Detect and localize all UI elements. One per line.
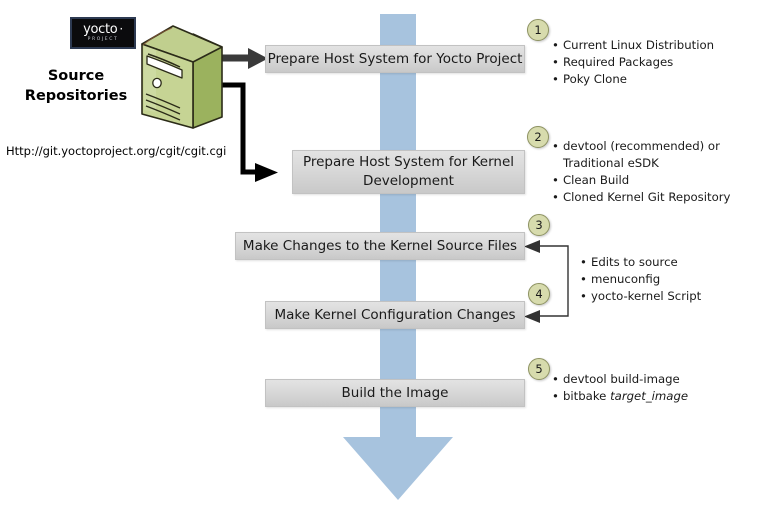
list-item: • Edits to source	[580, 254, 769, 271]
bullet-glyph: •	[552, 388, 563, 405]
list-item: • Cloned Kernel Git Repository	[552, 189, 767, 206]
step-badge-3: 3	[528, 214, 550, 236]
step-badge-1: 1	[527, 19, 549, 41]
step-badge-5-number: 5	[535, 362, 542, 376]
step-1-bullet-2: Poky Clone	[563, 71, 767, 88]
bullet-glyph: •	[552, 138, 563, 155]
process-box-prepare-host-yocto[interactable]: Prepare Host System for Yocto Project	[265, 45, 525, 73]
source-repository-url: Http://git.yoctoproject.org/cgit/cgit.cg…	[6, 144, 236, 158]
bullet-glyph: •	[552, 54, 563, 71]
step-5-bullet-1: bitbake target_image	[563, 388, 767, 405]
process-box-2-label: Prepare Host System for Kernel Developme…	[303, 153, 514, 191]
step-badge-4-number: 4	[535, 287, 542, 301]
source-label-line1: Source	[18, 66, 134, 86]
step-badge-3-number: 3	[535, 218, 542, 232]
step-1-bullet-0: Current Linux Distribution	[563, 37, 767, 54]
shared-bullet-2: yocto-kernel Script	[591, 288, 769, 305]
process-box-2-label-line2: Development	[363, 173, 454, 189]
logo-subtext: PROJECT	[88, 37, 119, 43]
step-5-bullet-1-prefix: bitbake	[563, 389, 610, 403]
logo-wordmark: yocto·	[83, 23, 123, 36]
list-item: • menuconfig	[580, 271, 769, 288]
step-5-bullet-list: • devtool build-image • bitbake target_i…	[552, 371, 767, 405]
step-5-bullet-1-italic: target_image	[610, 389, 688, 403]
logo-word-text: yocto	[83, 22, 117, 37]
step-2-bullet-0-continuation: Traditional eSDK	[552, 155, 767, 172]
list-item: • Poky Clone	[552, 71, 767, 88]
list-item: • devtool (recommended) or	[552, 138, 767, 155]
bullet-glyph: •	[552, 37, 563, 54]
source-repositories-label: Source Repositories	[18, 66, 134, 106]
logo-dot: ·	[119, 22, 123, 36]
shared-bullet-1: menuconfig	[591, 271, 769, 288]
step-badge-2-number: 2	[534, 130, 541, 144]
step-5-bullet-0: devtool build-image	[563, 371, 767, 388]
process-box-2-label-line1: Prepare Host System for Kernel	[303, 154, 514, 170]
server-tower-icon	[136, 22, 228, 134]
list-item: • Current Linux Distribution	[552, 37, 767, 54]
step-2-bullet-1: Clean Build	[563, 172, 767, 189]
bullet-glyph: •	[580, 271, 591, 288]
process-box-5-label: Build the Image	[342, 384, 449, 403]
bullet-glyph: •	[552, 71, 563, 88]
source-label-line2: Repositories	[18, 86, 134, 106]
step-badge-1-number: 1	[534, 23, 541, 37]
step-1-bullet-1: Required Packages	[563, 54, 767, 71]
bullet-glyph: •	[580, 254, 591, 271]
step-2-bullet-2: Cloned Kernel Git Repository	[563, 189, 767, 206]
process-box-4-label: Make Kernel Configuration Changes	[274, 306, 515, 325]
process-box-prepare-host-kernel[interactable]: Prepare Host System for Kernel Developme…	[292, 150, 525, 194]
step-2-bullet-list: • devtool (recommended) or Traditional e…	[552, 138, 767, 206]
shared-bullet-0: Edits to source	[591, 254, 769, 271]
bullet-glyph: •	[580, 288, 591, 305]
list-item: • Required Packages	[552, 54, 767, 71]
steps-3-4-bullet-list: • Edits to source • menuconfig • yocto-k…	[580, 254, 769, 305]
process-box-make-kernel-config-changes[interactable]: Make Kernel Configuration Changes	[265, 301, 525, 329]
list-item: • bitbake target_image	[552, 388, 767, 405]
yocto-project-logo: yocto· PROJECT	[70, 17, 136, 49]
bullet-glyph: •	[552, 172, 563, 189]
step-1-bullet-list: • Current Linux Distribution • Required …	[552, 37, 767, 88]
step-2-bullet-0: devtool (recommended) or	[563, 138, 767, 155]
process-box-3-label: Make Changes to the Kernel Source Files	[243, 237, 517, 256]
process-box-1-label: Prepare Host System for Yocto Project	[268, 50, 523, 69]
step-badge-2: 2	[527, 126, 549, 148]
bullet-glyph: •	[552, 371, 563, 388]
step-badge-5: 5	[528, 358, 550, 380]
list-item: • yocto-kernel Script	[580, 288, 769, 305]
step-badge-4: 4	[528, 283, 550, 305]
process-box-build-the-image[interactable]: Build the Image	[265, 379, 525, 407]
list-item: • Clean Build	[552, 172, 767, 189]
bullet-glyph: •	[552, 189, 563, 206]
diagram-canvas: yocto· PROJECT Source Repositories Http:…	[0, 0, 769, 517]
list-item: • devtool build-image	[552, 371, 767, 388]
process-box-make-kernel-source-changes[interactable]: Make Changes to the Kernel Source Files	[235, 232, 525, 260]
